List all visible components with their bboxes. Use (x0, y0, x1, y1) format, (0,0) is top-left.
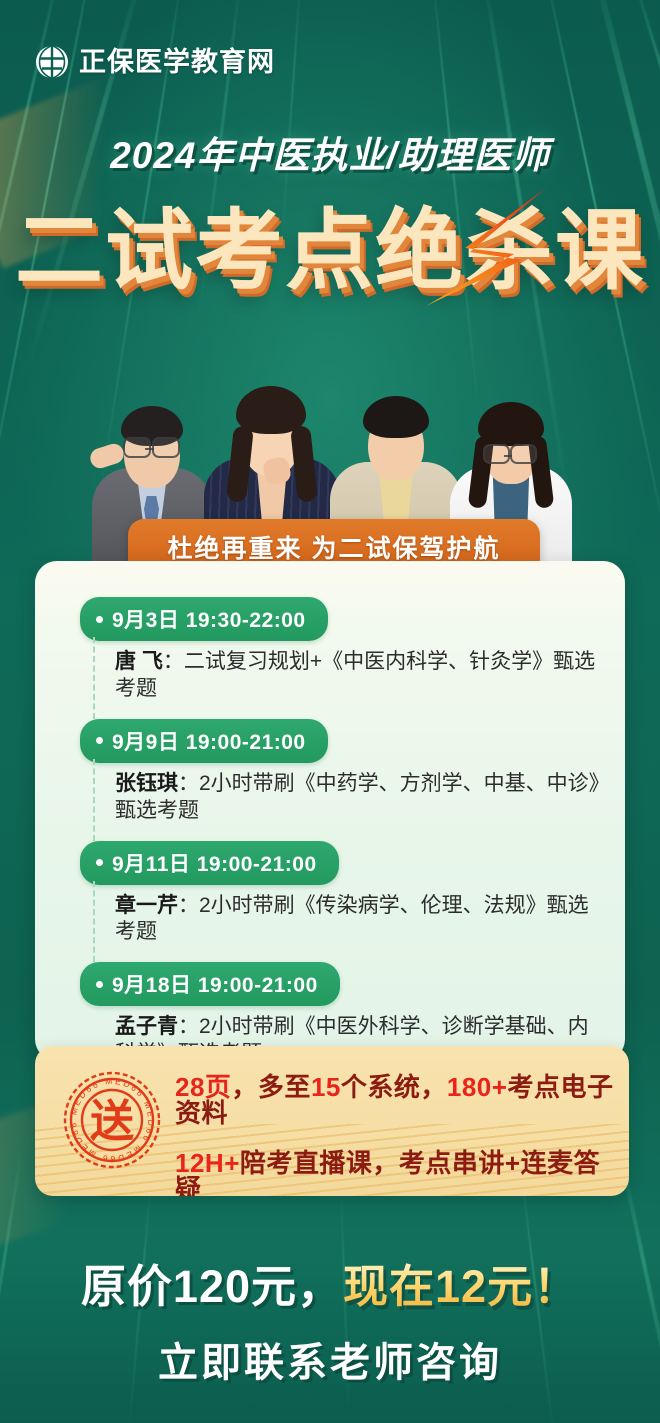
brand-name: 正保医学教育网 (79, 49, 275, 76)
cta-text[interactable]: 立即联系老师咨询 (0, 1330, 660, 1388)
schedule-datetime: 9月18日 19:00-21:00 (112, 969, 318, 999)
list-item[interactable]: 9月11日 19:00-21:00 章一芹：2小时带刷《传染病学、伦理、法规》甄… (80, 841, 603, 947)
gift-benefit-line-1: 28页，多至15个系统，180+考点电子资料 (175, 1074, 615, 1126)
list-item[interactable]: 9月3日 19:30-22:00 唐 飞：二试复习规划+《中医内科学、针灸学》甄… (80, 597, 603, 703)
schedule-datetime-chip: 9月3日 19:30-22:00 (80, 597, 328, 641)
page-title: 二试考点绝杀课 (15, 205, 645, 297)
schedule-description: 唐 飞：二试复习规划+《中医内科学、针灸学》甄选考题 (80, 649, 603, 703)
separator: ： (163, 650, 184, 673)
price-current: 现在12元！ (343, 1261, 579, 1312)
cross-circle-icon (34, 44, 70, 80)
bullet-dot-icon (96, 616, 103, 623)
gift-text: 个系统， (341, 1072, 447, 1102)
timeline-connector (93, 759, 95, 841)
hero-subtitle: 2024年中医执业/助理医师 (0, 125, 660, 179)
schedule-content: 二试复习规划+《中医内科学、针灸学》甄选考题 (115, 650, 595, 700)
bullet-dot-icon (96, 737, 103, 744)
gift-highlight: 15 (311, 1072, 341, 1102)
price-original: 原价120元， (81, 1261, 343, 1312)
gift-seal-stamp-icon: MED66 MED66 MED66 MED66 MED66 送 (60, 1068, 164, 1172)
hero-title-wrap: 二试考点绝杀课 (0, 205, 660, 325)
promo-poster: 正保医学教育网 2024年中医执业/助理医师 二试考点绝杀课 (0, 0, 660, 1423)
schedule-datetime: 9月3日 19:30-22:00 (112, 604, 306, 634)
schedule-datetime-chip: 9月18日 19:00-21:00 (80, 962, 340, 1006)
teacher-name: 章一芹 (115, 894, 178, 917)
teacher-name: 张钰琪 (115, 772, 178, 795)
separator: ： (178, 1015, 199, 1038)
gift-card: MED66 MED66 MED66 MED66 MED66 送 28页，多至15… (35, 1046, 629, 1196)
schedule-list: 9月3日 19:30-22:00 唐 飞：二试复习规划+《中医内科学、针灸学》甄… (80, 597, 603, 1084)
timeline-connector (93, 637, 95, 719)
gift-text: ，多至 (231, 1072, 311, 1102)
schedule-panel: 9月3日 19:30-22:00 唐 飞：二试复习规划+《中医内科学、针灸学》甄… (35, 561, 625, 1061)
separator: ： (178, 894, 199, 917)
price-line: 原价120元，现在12元！ (0, 1250, 660, 1315)
separator: ： (178, 772, 199, 795)
schedule-datetime: 9月11日 19:00-21:00 (112, 848, 317, 878)
timeline-connector (93, 881, 95, 963)
gift-benefit-line-2: 12H+陪考直播课，考点串讲+连麦答疑 (175, 1150, 615, 1196)
schedule-description: 张钰琪：2小时带刷《中药学、方剂学、中基、中诊》甄选考题 (80, 771, 603, 825)
schedule-datetime-chip: 9月9日 19:00-21:00 (80, 719, 328, 763)
bullet-dot-icon (96, 859, 103, 866)
svg-text:送: 送 (90, 1097, 134, 1146)
list-item[interactable]: 9月9日 19:00-21:00 张钰琪：2小时带刷《中药学、方剂学、中基、中诊… (80, 719, 603, 825)
gift-benefit-lines: 28页，多至15个系统，180+考点电子资料 12H+陪考直播课，考点串讲+连麦… (175, 1074, 615, 1196)
schedule-datetime-chip: 9月11日 19:00-21:00 (80, 841, 339, 885)
brand-logo: 正保医学教育网 (34, 44, 275, 80)
teacher-name: 孟子青 (115, 1015, 178, 1038)
teacher-name: 唐 飞 (115, 650, 163, 673)
gift-highlight: 180+ (447, 1072, 508, 1102)
bullet-dot-icon (96, 981, 103, 988)
glasses-icon (483, 444, 510, 464)
schedule-description: 章一芹：2小时带刷《传染病学、伦理、法规》甄选考题 (80, 893, 603, 947)
schedule-datetime: 9月9日 19:00-21:00 (112, 726, 306, 756)
highlight-banner-text: 杜绝再重来 为二试保驾护航 (168, 529, 501, 565)
